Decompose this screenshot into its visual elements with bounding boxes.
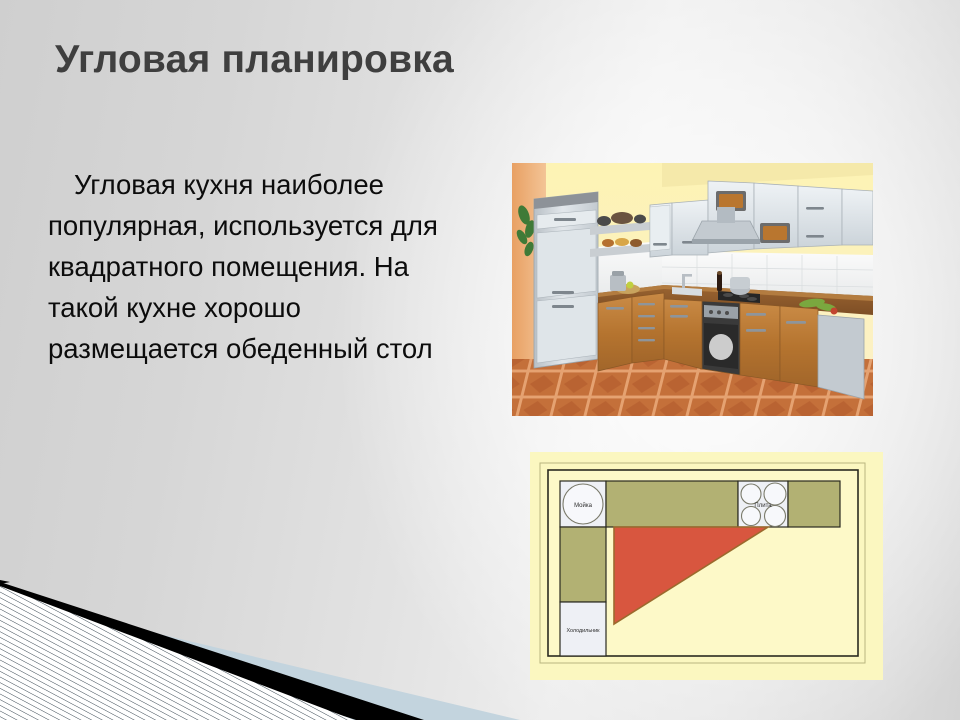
plan-stove-label: Плита — [754, 503, 772, 509]
slide-canvas: Угловая планировка Угловая кухня наиболе… — [0, 0, 960, 720]
decorative-corner-band — [0, 530, 520, 720]
slide-body-text: Угловая кухня наиболее популярная, испол… — [48, 164, 448, 369]
kitchen-photo — [512, 163, 873, 416]
plan-sink-label: Мойка — [574, 502, 593, 509]
plan-fridge-label: Холодильник — [567, 628, 601, 634]
slide-title: Угловая планировка — [55, 38, 755, 82]
kitchen-floor-plan: Мойка Плита Холодильник — [530, 452, 883, 680]
